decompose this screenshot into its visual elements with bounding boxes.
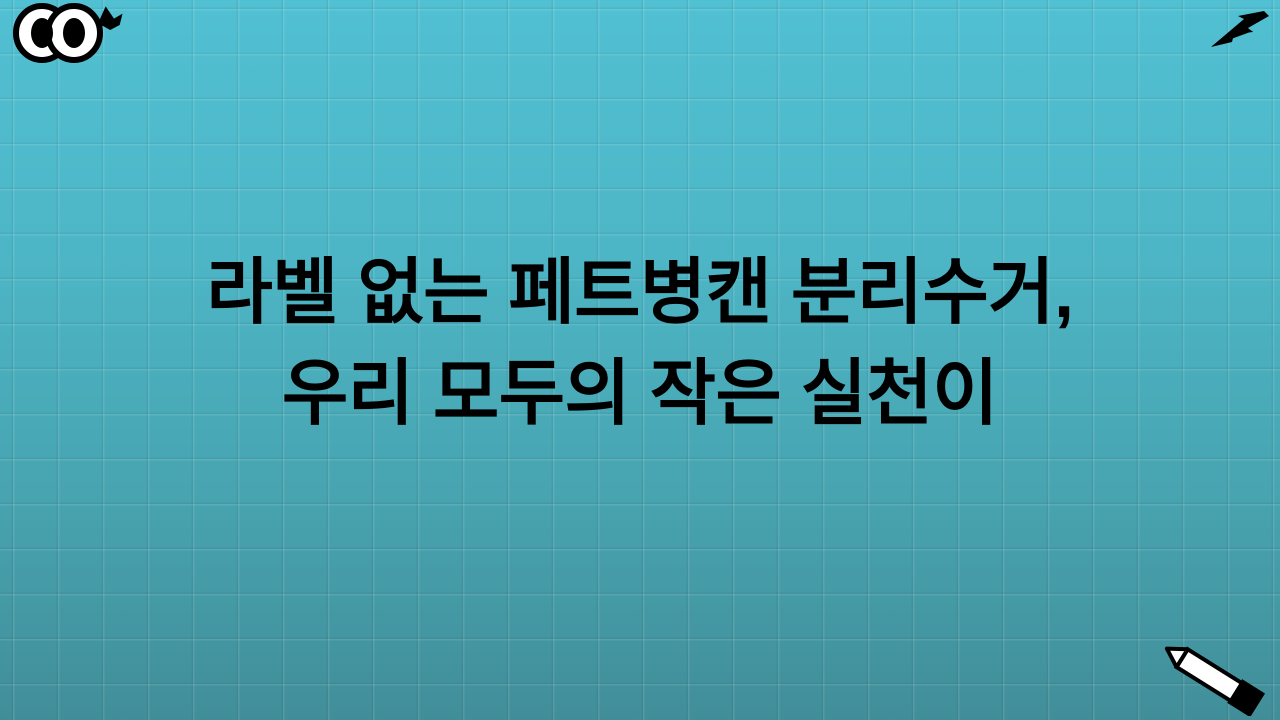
logo-star-icon [96,5,124,32]
headline-line-1: 라벨 없는 페트병캔 분리수거, [207,246,1074,341]
thumbnail-card: 라벨 없는 페트병캔 분리수거, 우리 모두의 작은 실천이 [0,0,1280,720]
pencil-icon [1162,644,1274,716]
arrow-cursor-icon [1208,4,1272,56]
page-title: 라벨 없는 페트병캔 분리수거, 우리 모두의 작은 실천이 [0,246,1280,442]
logo-double-circle [16,6,100,60]
headline-line-2: 우리 모두의 작은 실천이 [282,347,998,442]
oo-star-logo [6,2,124,64]
